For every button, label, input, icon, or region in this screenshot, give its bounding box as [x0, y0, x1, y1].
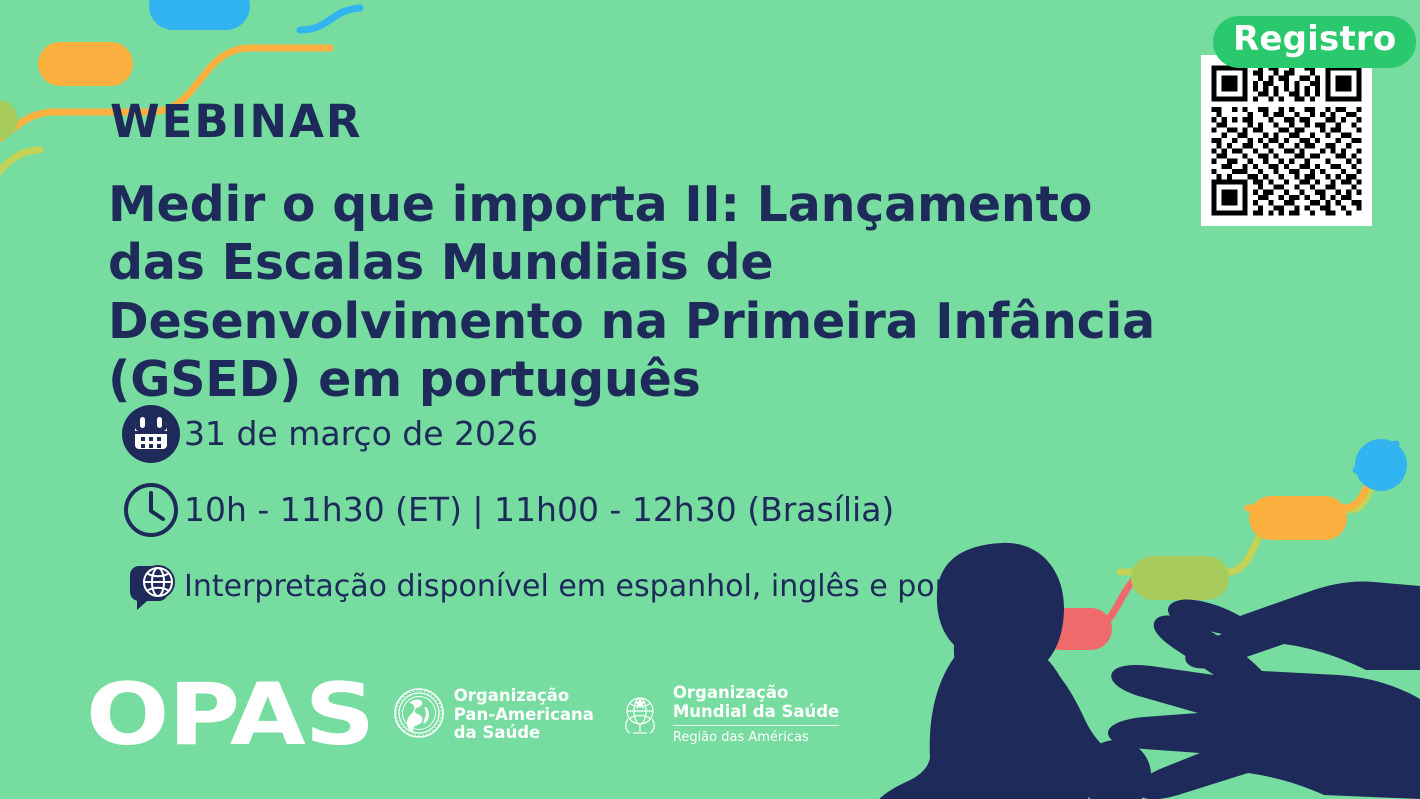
page-title: Medir o que importa II: Lançamento das E… — [108, 176, 1188, 409]
who-logo: Organização Mundial da Saúde Região das … — [616, 684, 839, 746]
who-logo-text: Organização Mundial da Saúde Região das … — [673, 684, 839, 746]
clock-icon — [122, 481, 184, 539]
qr-code-image — [1201, 55, 1372, 226]
languages-text: Interpretação disponível em espanhol, in… — [184, 570, 1050, 603]
info-row-time: 10h - 11h30 (ET) | 11h00 - 12h30 (Brasíl… — [122, 472, 1122, 548]
paho-logo: Organização Pan-Americana da Saúde — [393, 687, 594, 743]
info-row-date: 31 de março de 2026 — [122, 396, 1122, 472]
paho-logo-text: Organização Pan-Americana da Saúde — [454, 687, 594, 743]
paho-line-2: Pan-Americana — [454, 706, 594, 725]
globe-speech-icon — [122, 557, 184, 615]
info-list: 31 de março de 2026 10h - 11h30 (ET) | 1… — [122, 396, 1122, 624]
who-emblem-icon — [616, 689, 664, 741]
poster-content: WEBINAR Medir o que importa II: Lançamen… — [0, 0, 1420, 799]
paho-line-3: da Saúde — [454, 724, 594, 743]
calendar-icon — [122, 405, 184, 463]
kicker-label: WEBINAR — [110, 99, 363, 144]
time-text: 10h - 11h30 (ET) | 11h00 - 12h30 (Brasíl… — [184, 492, 894, 528]
webinar-poster: WEBINAR Medir o que importa II: Lançamen… — [0, 0, 1420, 799]
date-text: 31 de março de 2026 — [184, 416, 538, 452]
qr-code[interactable] — [1201, 55, 1372, 226]
paho-line-1: Organização — [454, 687, 594, 706]
opas-wordmark: OPAS — [86, 672, 374, 758]
footer-logos: OPAS — [86, 672, 839, 758]
who-line-2: Mundial da Saúde — [673, 703, 839, 722]
who-line-1: Organização — [673, 684, 839, 703]
who-region-line: Região das Américas — [673, 725, 839, 746]
registro-badge[interactable]: Registro — [1213, 16, 1416, 68]
info-row-languages: Interpretação disponível em espanhol, in… — [122, 548, 1122, 624]
paho-seal-icon — [393, 687, 445, 743]
